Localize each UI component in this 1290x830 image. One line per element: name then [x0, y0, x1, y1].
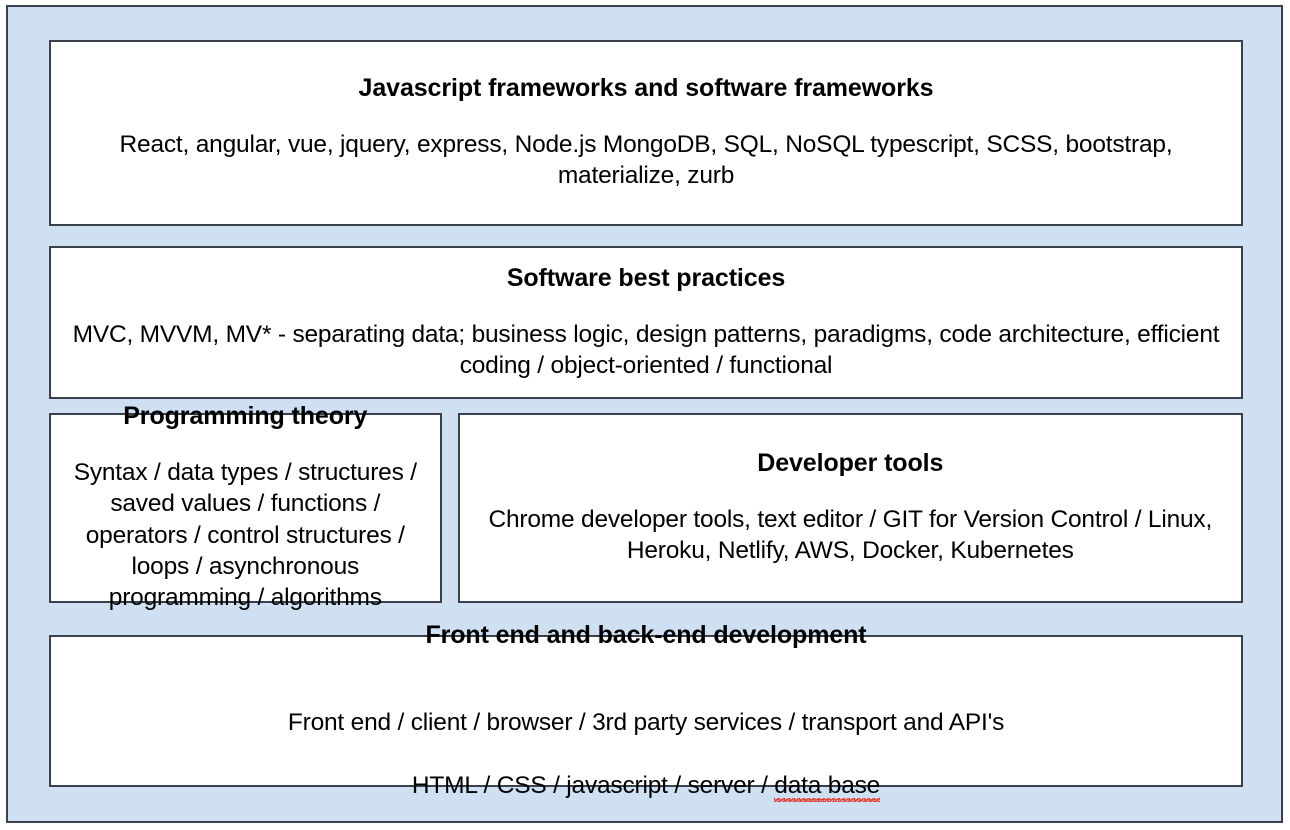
card-javascript-frameworks: Javascript frameworks and software frame… — [49, 40, 1243, 226]
card-title-software-best-practices: Software best practices — [507, 264, 785, 293]
card-software-best-practices: Software best practices MVC, MVVM, MV* -… — [49, 246, 1243, 399]
card-title-programming-theory: Programming theory — [123, 402, 367, 431]
card-row-theory-and-tools: Programming theory Syntax / data types /… — [49, 413, 1243, 603]
card-developer-tools: Developer tools Chrome developer tools, … — [458, 413, 1243, 603]
fullstack-body-line-2-prefix: HTML / CSS / javascript / server / — [412, 772, 774, 799]
fullstack-body-line-1: Front end / client / browser / 3rd party… — [288, 709, 1004, 736]
card-title-javascript-frameworks: Javascript frameworks and software frame… — [359, 74, 934, 103]
card-body-developer-tools: Chrome developer tools, text editor / GI… — [476, 504, 1225, 567]
card-body-javascript-frameworks: React, angular, vue, jquery, express, No… — [67, 129, 1225, 192]
card-frontend-backend-development: Front end and back-end development Front… — [49, 635, 1243, 787]
misspelled-word-data-base: data base — [774, 772, 880, 799]
card-title-developer-tools: Developer tools — [757, 449, 943, 478]
card-body-programming-theory: Syntax / data types / structures / saved… — [67, 457, 424, 614]
card-title-frontend-backend-development: Front end and back-end development — [425, 621, 866, 650]
diagram-panel: Javascript frameworks and software frame… — [6, 5, 1283, 823]
card-body-frontend-backend-development: Front end / client / browser / 3rd party… — [288, 676, 1004, 801]
card-body-software-best-practices: MVC, MVVM, MV* - separating data; busine… — [67, 319, 1225, 382]
card-programming-theory: Programming theory Syntax / data types /… — [49, 413, 442, 603]
